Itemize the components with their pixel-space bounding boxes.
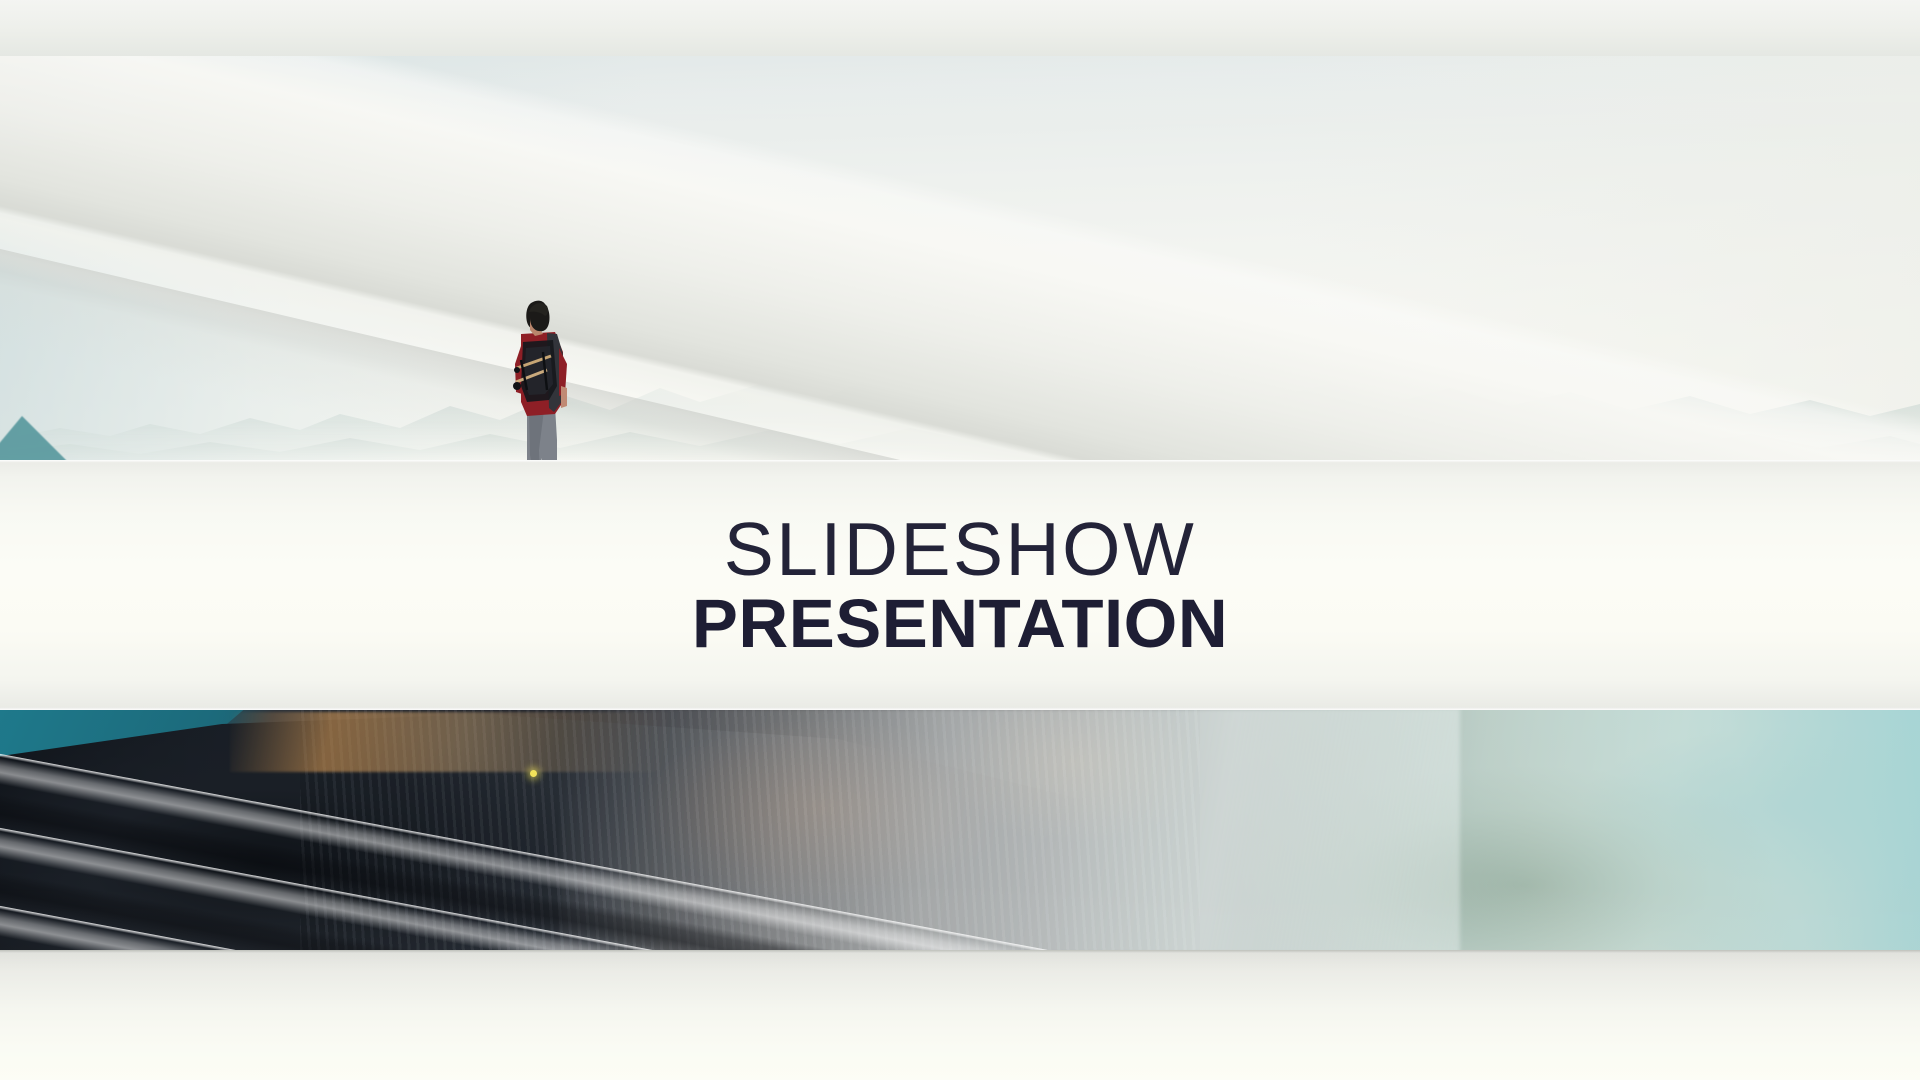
slide-title-secondary: PRESENTATION [692,589,1228,658]
teal-peak-left [0,416,70,464]
title-container: SLIDESHOW PRESENTATION [0,460,1920,710]
top-photo-panel [0,52,1920,464]
atmospheric-haze-overlay [560,708,1460,954]
yellow-light-speck [530,770,537,777]
bottom-strip-top-edge [0,950,1920,953]
bottom-letterbox-strip [0,950,1920,1080]
slideshow-stage: SLIDESHOW PRESENTATION [0,0,1920,1080]
title-band: SLIDESHOW PRESENTATION [0,460,1920,710]
slide-title-primary: SLIDESHOW [724,512,1197,587]
hiker-figure [497,290,583,464]
top-letterbox-strip [0,0,1920,56]
bottom-photo-panel [0,708,1920,954]
